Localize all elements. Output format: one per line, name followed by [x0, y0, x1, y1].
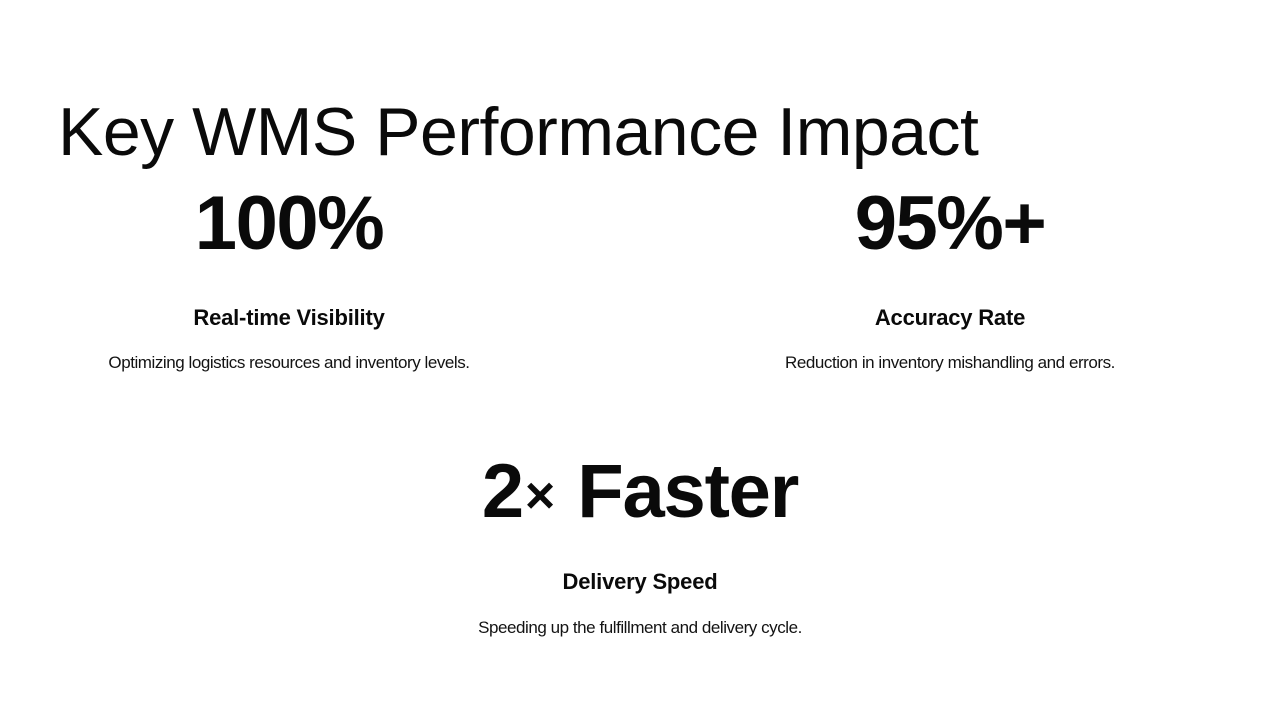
- multiplication-sign-icon: ×: [523, 467, 557, 525]
- stat-description: Optimizing logistics resources and inven…: [108, 352, 469, 374]
- stat-value-number: 2: [482, 449, 523, 534]
- stat-label: Accuracy Rate: [875, 306, 1025, 330]
- stats-grid: 100% Real-time Visibility Optimizing log…: [0, 186, 1280, 374]
- stat-label: Real-time Visibility: [193, 306, 384, 330]
- stat-card-accuracy-rate: 95%+ Accuracy Rate Reduction in inventor…: [640, 186, 1280, 374]
- stat-description: Speeding up the fulfillment and delivery…: [478, 617, 802, 639]
- stat-card-real-time-visibility: 100% Real-time Visibility Optimizing log…: [0, 186, 640, 374]
- page-title: Key WMS Performance Impact: [58, 98, 978, 166]
- stat-value: 95%+: [855, 186, 1046, 262]
- stat-value: 100%: [195, 186, 383, 262]
- stat-description: Reduction in inventory mishandling and e…: [785, 352, 1115, 374]
- stat-value: 2× Faster: [482, 454, 798, 530]
- slide-canvas: Key WMS Performance Impact 100% Real-tim…: [0, 0, 1280, 720]
- stat-label: Delivery Speed: [563, 570, 718, 594]
- stat-card-delivery-speed: 2× Faster Delivery Speed Speeding up the…: [0, 454, 1280, 639]
- stat-value-word: Faster: [577, 449, 798, 534]
